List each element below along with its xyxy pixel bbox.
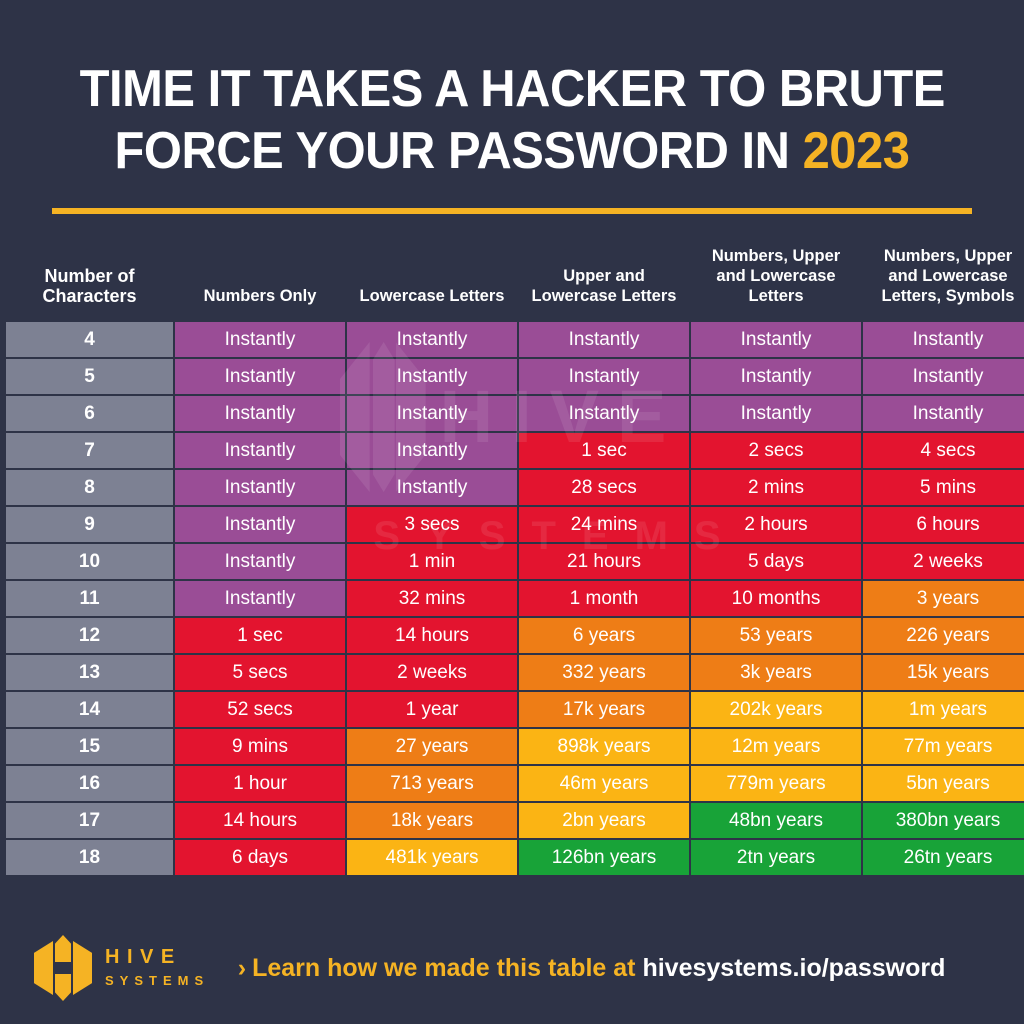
- password-strength-table-wrap: HIVE SYSTEMS Number of CharactersNumbers…: [0, 232, 1024, 912]
- table-row: 161 hour713 years46m years779m years5bn …: [6, 766, 1024, 801]
- table-row: 11Instantly32 mins1 month10 months3 year…: [6, 581, 1024, 616]
- crack-time-cell: 226 years: [863, 618, 1024, 653]
- crack-time-cell: 1 sec: [175, 618, 345, 653]
- crack-time-cell: 2 mins: [691, 470, 861, 505]
- table-row: 186 days481k years126bn years2tn years26…: [6, 840, 1024, 875]
- table-row: 5InstantlyInstantlyInstantlyInstantlyIns…: [6, 359, 1024, 394]
- crack-time-cell: Instantly: [175, 470, 345, 505]
- crack-time-cell: 898k years: [519, 729, 689, 764]
- crack-time-cell: 12m years: [691, 729, 861, 764]
- row-label-character-count: 12: [6, 618, 173, 653]
- crack-time-cell: Instantly: [175, 359, 345, 394]
- hive-systems-logo[interactable]: HIVE SYSTEMS: [34, 935, 209, 1001]
- table-row: 8InstantlyInstantly28 secs2 mins5 mins: [6, 470, 1024, 505]
- row-label-character-count: 13: [6, 655, 173, 690]
- crack-time-cell: 10 months: [691, 581, 861, 616]
- crack-time-cell: 5bn years: [863, 766, 1024, 801]
- table-row: 121 sec14 hours6 years53 years226 years: [6, 618, 1024, 653]
- footer-bar: HIVE SYSTEMS ›Learn how we made this tab…: [0, 912, 1024, 1024]
- logo-hive-text: HIVE: [105, 946, 209, 969]
- infographic-page: TIME IT TAKES A HACKER TO BRUTE FORCE YO…: [0, 0, 1024, 1024]
- crack-time-cell: 126bn years: [519, 840, 689, 875]
- table-row: 9Instantly3 secs24 mins2 hours6 hours: [6, 507, 1024, 542]
- crack-time-cell: 2 secs: [691, 433, 861, 468]
- crack-time-cell: 5 secs: [175, 655, 345, 690]
- crack-time-cell: Instantly: [347, 359, 517, 394]
- crack-time-cell: 5 mins: [863, 470, 1024, 505]
- crack-time-cell: Instantly: [691, 396, 861, 431]
- crack-time-cell: Instantly: [863, 396, 1024, 431]
- column-header-4: Numbers, Upper and Lowercase Letters: [691, 234, 861, 320]
- crack-time-cell: 6 days: [175, 840, 345, 875]
- crack-time-cell: 6 years: [519, 618, 689, 653]
- table-row: 10Instantly1 min21 hours5 days2 weeks: [6, 544, 1024, 579]
- crack-time-cell: 779m years: [691, 766, 861, 801]
- crack-time-cell: 1 hour: [175, 766, 345, 801]
- crack-time-cell: Instantly: [691, 322, 861, 357]
- crack-time-cell: 2tn years: [691, 840, 861, 875]
- row-label-character-count: 8: [6, 470, 173, 505]
- crack-time-cell: 2 hours: [691, 507, 861, 542]
- crack-time-cell: 3 secs: [347, 507, 517, 542]
- row-label-character-count: 4: [6, 322, 173, 357]
- crack-time-cell: 1 year: [347, 692, 517, 727]
- row-label-character-count: 15: [6, 729, 173, 764]
- row-label-character-count: 17: [6, 803, 173, 838]
- crack-time-cell: 24 mins: [519, 507, 689, 542]
- crack-time-cell: 1m years: [863, 692, 1024, 727]
- chevron-right-icon: ›: [238, 954, 246, 983]
- title-line-2: FORCE YOUR PASSWORD IN 2023: [80, 120, 945, 182]
- table-header-row: Number of CharactersNumbers OnlyLowercas…: [6, 234, 1024, 320]
- crack-time-cell: 380bn years: [863, 803, 1024, 838]
- crack-time-cell: 53 years: [691, 618, 861, 653]
- table-row: 1452 secs1 year17k years202k years1m yea…: [6, 692, 1024, 727]
- crack-time-cell: Instantly: [175, 507, 345, 542]
- crack-time-cell: Instantly: [347, 322, 517, 357]
- logo-wordmark: HIVE SYSTEMS: [105, 946, 209, 990]
- crack-time-cell: Instantly: [175, 544, 345, 579]
- crack-time-cell: 18k years: [347, 803, 517, 838]
- crack-time-cell: 3k years: [691, 655, 861, 690]
- crack-time-cell: Instantly: [347, 396, 517, 431]
- title-line-1: TIME IT TAKES A HACKER TO BRUTE: [80, 58, 945, 120]
- crack-time-cell: 1 min: [347, 544, 517, 579]
- table-header: Number of CharactersNumbers OnlyLowercas…: [6, 234, 1024, 320]
- crack-time-cell: 332 years: [519, 655, 689, 690]
- crack-time-cell: 481k years: [347, 840, 517, 875]
- crack-time-cell: 6 hours: [863, 507, 1024, 542]
- hive-hexagon-logo-icon: [34, 935, 92, 1001]
- table-body: 4InstantlyInstantlyInstantlyInstantlyIns…: [6, 322, 1024, 875]
- crack-time-cell: Instantly: [175, 581, 345, 616]
- row-label-character-count: 5: [6, 359, 173, 394]
- crack-time-cell: 21 hours: [519, 544, 689, 579]
- crack-time-cell: 28 secs: [519, 470, 689, 505]
- crack-time-cell: 77m years: [863, 729, 1024, 764]
- crack-time-cell: 26tn years: [863, 840, 1024, 875]
- row-label-character-count: 11: [6, 581, 173, 616]
- gold-divider-rule: [52, 208, 972, 214]
- crack-time-cell: 52 secs: [175, 692, 345, 727]
- title-block: TIME IT TAKES A HACKER TO BRUTE FORCE YO…: [0, 0, 1024, 214]
- column-header-5: Numbers, Upper and Lowercase Letters, Sy…: [863, 234, 1024, 320]
- logo-systems-text: SYSTEMS: [105, 972, 209, 990]
- footer-cta-url[interactable]: hivesystems.io/password: [642, 954, 945, 982]
- row-label-character-count: 16: [6, 766, 173, 801]
- column-header-0: Number of Characters: [6, 234, 173, 320]
- row-label-character-count: 6: [6, 396, 173, 431]
- table-row: 6InstantlyInstantlyInstantlyInstantlyIns…: [6, 396, 1024, 431]
- crack-time-cell: Instantly: [691, 359, 861, 394]
- crack-time-cell: 27 years: [347, 729, 517, 764]
- crack-time-cell: 2 weeks: [863, 544, 1024, 579]
- crack-time-cell: 14 hours: [175, 803, 345, 838]
- crack-time-cell: Instantly: [863, 359, 1024, 394]
- row-label-character-count: 18: [6, 840, 173, 875]
- crack-time-cell: Instantly: [347, 433, 517, 468]
- title-line-2-prefix: FORCE YOUR PASSWORD IN: [115, 122, 803, 180]
- table-row: 159 mins27 years898k years12m years77m y…: [6, 729, 1024, 764]
- row-label-character-count: 7: [6, 433, 173, 468]
- crack-time-cell: Instantly: [175, 396, 345, 431]
- table-row: 4InstantlyInstantlyInstantlyInstantlyIns…: [6, 322, 1024, 357]
- table-row: 7InstantlyInstantly1 sec2 secs4 secs: [6, 433, 1024, 468]
- table-row: 1714 hours18k years2bn years48bn years38…: [6, 803, 1024, 838]
- crack-time-cell: 3 years: [863, 581, 1024, 616]
- crack-time-cell: Instantly: [175, 322, 345, 357]
- crack-time-cell: Instantly: [863, 322, 1024, 357]
- crack-time-cell: 15k years: [863, 655, 1024, 690]
- crack-time-cell: 1 month: [519, 581, 689, 616]
- crack-time-cell: Instantly: [519, 322, 689, 357]
- crack-time-cell: Instantly: [519, 396, 689, 431]
- crack-time-cell: 17k years: [519, 692, 689, 727]
- crack-time-cell: Instantly: [519, 359, 689, 394]
- crack-time-cell: 4 secs: [863, 433, 1024, 468]
- column-header-3: Upper and Lowercase Letters: [519, 234, 689, 320]
- row-label-character-count: 10: [6, 544, 173, 579]
- row-label-character-count: 14: [6, 692, 173, 727]
- crack-time-cell: 9 mins: [175, 729, 345, 764]
- crack-time-cell: 48bn years: [691, 803, 861, 838]
- footer-cta-text: Learn how we made this table at: [252, 954, 642, 982]
- column-header-1: Numbers Only: [175, 234, 345, 320]
- password-strength-table: Number of CharactersNumbers OnlyLowercas…: [4, 232, 1024, 877]
- crack-time-cell: Instantly: [175, 433, 345, 468]
- crack-time-cell: 2 weeks: [347, 655, 517, 690]
- table-row: 135 secs2 weeks332 years3k years15k year…: [6, 655, 1024, 690]
- crack-time-cell: 5 days: [691, 544, 861, 579]
- title-year: 2023: [803, 122, 910, 180]
- column-header-2: Lowercase Letters: [347, 234, 517, 320]
- crack-time-cell: 2bn years: [519, 803, 689, 838]
- crack-time-cell: 32 mins: [347, 581, 517, 616]
- crack-time-cell: Instantly: [347, 470, 517, 505]
- crack-time-cell: 46m years: [519, 766, 689, 801]
- crack-time-cell: 202k years: [691, 692, 861, 727]
- row-label-character-count: 9: [6, 507, 173, 542]
- crack-time-cell: 713 years: [347, 766, 517, 801]
- crack-time-cell: 1 sec: [519, 433, 689, 468]
- footer-cta[interactable]: ›Learn how we made this table at hivesys…: [209, 954, 984, 983]
- crack-time-cell: 14 hours: [347, 618, 517, 653]
